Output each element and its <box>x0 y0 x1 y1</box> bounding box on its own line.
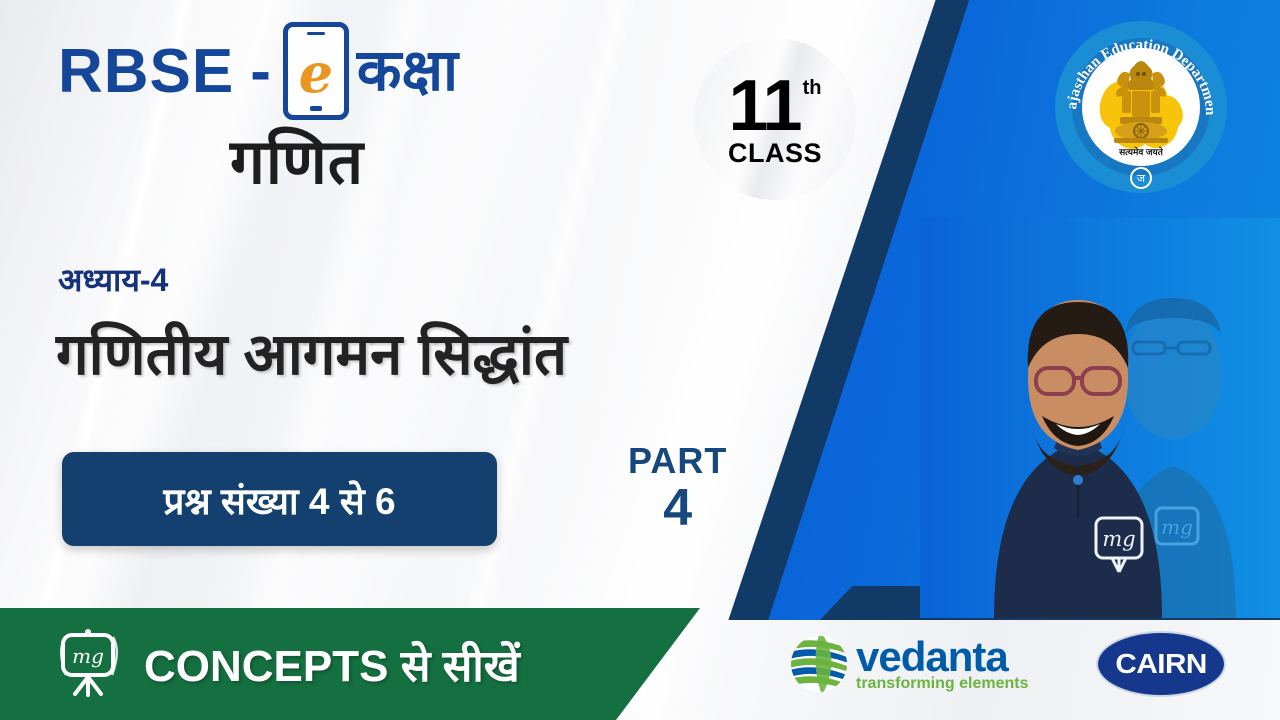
brand-separator: - <box>250 36 271 107</box>
footer-green-bar: mg CONCEPTS से सीखें <box>0 608 700 720</box>
cairn-logo: CAIRN <box>1096 631 1226 697</box>
e-glyph: e <box>299 46 333 100</box>
subject-title: गणित <box>230 118 364 202</box>
sponsor-strip: vedanta transforming elements CAIRN <box>770 608 1280 720</box>
part-number: 4 <box>628 481 727 536</box>
ashoka-pillar-emblem <box>1114 61 1168 143</box>
board-name: RBSE <box>58 36 234 107</box>
question-range-text: प्रश्न संख्या 4 से 6 <box>163 474 395 525</box>
thumbnail-canvas: mg mg <box>0 0 1280 720</box>
footer-tagline: CONCEPTS से सीखें <box>144 634 520 694</box>
mg-easel-icon: mg <box>56 629 122 699</box>
question-range-badge: प्रश्न संख्या 4 से 6 <box>62 452 497 546</box>
cairn-wordmark: CAIRN <box>1116 648 1207 680</box>
part-indicator: PART 4 <box>628 443 727 536</box>
brand-header: RBSE - e कक्षा <box>58 22 458 120</box>
class-ordinal-suffix: th <box>803 78 822 98</box>
class-label: CLASS <box>728 138 822 169</box>
class-number-row: 11 th <box>728 70 821 142</box>
part-label: PART <box>628 443 727 479</box>
rajasthan-education-department-logo: Rajasthan Education Department <box>1052 18 1230 196</box>
svg-text:ज: ज <box>1137 173 1146 185</box>
chapter-label: अध्याय-4 <box>58 258 168 301</box>
smartphone-e-icon: e <box>283 22 349 120</box>
portal-name: कक्षा <box>357 42 458 100</box>
class-number: 11 <box>728 70 800 142</box>
logo-motto: सत्यमेव जयते <box>1118 146 1164 157</box>
vedanta-wordmark: vedanta <box>856 636 1028 678</box>
vedanta-wordmark-block: vedanta transforming elements <box>856 636 1028 692</box>
mg-monogram: mg <box>72 644 104 668</box>
vedanta-globe-icon <box>790 635 848 693</box>
chapter-title: गणितीय आगमन सिद्धांत <box>56 312 567 391</box>
vedanta-logo: vedanta transforming elements <box>790 635 1028 693</box>
vedanta-tagline: transforming elements <box>856 676 1028 692</box>
class-badge: 11 th CLASS <box>694 38 856 200</box>
